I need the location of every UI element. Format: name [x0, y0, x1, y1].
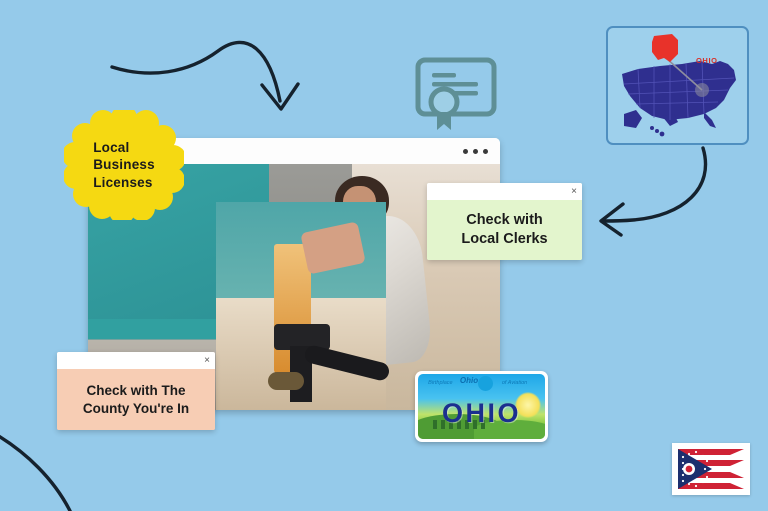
card-county-line-2: County You're In	[83, 400, 189, 418]
plate-script: Ohio	[460, 376, 478, 385]
certificate-icon	[414, 56, 498, 136]
card-county-line-1: Check with The	[83, 382, 189, 400]
us-map-svg	[608, 28, 747, 143]
map-ohio-label: OHIO	[696, 56, 718, 65]
local-business-licenses-badge: Local Business Licenses	[64, 110, 184, 220]
browser-menu-dots-icon[interactable]	[463, 149, 488, 154]
popup-card-body: Check with The County You're In	[57, 369, 215, 430]
card-clerks-line-1: Check with	[461, 211, 547, 230]
badge-text: Local Business Licenses	[93, 139, 155, 191]
decorative-swoosh-icon	[0, 425, 150, 511]
popup-card-county[interactable]: × Check with The County You're In	[57, 352, 215, 430]
popup-card-body: Check with Local Clerks	[427, 200, 582, 260]
ohio-license-plate: Birthplace of Aviation Ohio OHIO	[415, 371, 548, 442]
plate-swirl-icon	[478, 376, 493, 391]
curved-arrow-left-icon	[575, 130, 755, 240]
us-map-card: OHIO	[606, 26, 749, 145]
ohio-flag-svg	[672, 443, 750, 495]
curved-arrow-down-icon	[110, 5, 310, 120]
popup-card-titlebar: ×	[57, 352, 215, 369]
ohio-flag	[672, 443, 750, 495]
popup-card-local-clerks[interactable]: × Check with Local Clerks	[427, 183, 582, 260]
badge-line-1: Local	[93, 139, 155, 156]
close-icon[interactable]: ×	[204, 353, 210, 368]
close-icon[interactable]: ×	[571, 184, 577, 199]
plate-slogan-left: Birthplace	[428, 380, 452, 386]
badge-line-2: Business	[93, 156, 155, 173]
plate-number-text: OHIO	[418, 398, 545, 429]
canvas: OHIO	[0, 0, 768, 511]
plate-slogan-right: of Aviation	[502, 380, 527, 386]
camera-illustration	[216, 202, 386, 410]
badge-line-3: Licenses	[93, 174, 155, 191]
popup-card-titlebar: ×	[427, 183, 582, 200]
camera-lcd-screen	[216, 202, 302, 260]
card-clerks-line-2: Local Clerks	[461, 230, 547, 249]
